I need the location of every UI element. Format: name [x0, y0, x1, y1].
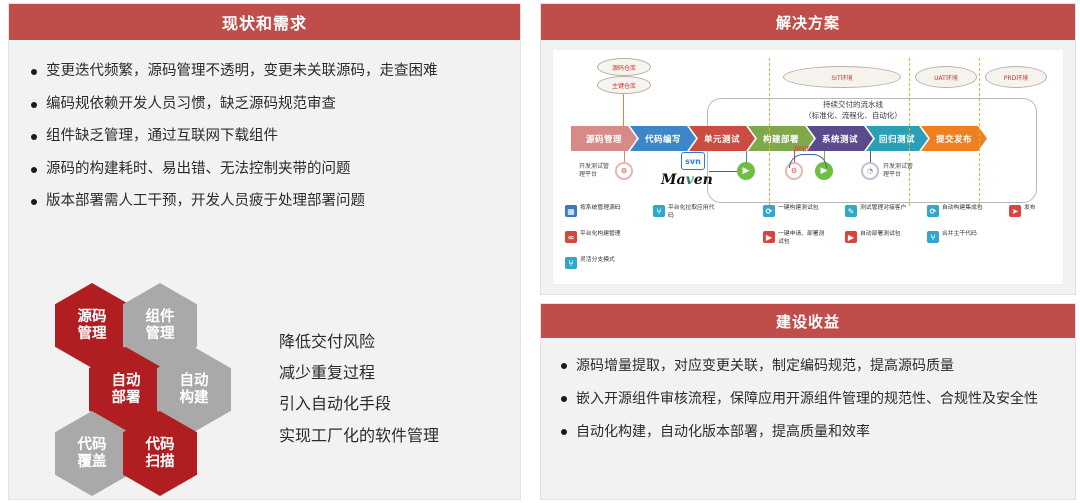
legend-item: ∞平台化构建管理 [565, 231, 628, 243]
current-state-panel: 现状和需求 变更迭代频繁，源码管理不透明，变更未关联源码，走查困难编码规依赖开发… [8, 3, 521, 500]
pipeline-node-label: 开发测试管 理平台 [579, 163, 609, 180]
benefit-goals-list: 降低交付风险减少重复过程引入自动化手段实现工厂化的软件管理 [279, 326, 439, 451]
hexagon-label-line2: 构建 [180, 390, 209, 407]
list-item-label: 版本部署需人工干预，开发人员疲于处理部署问题 [46, 192, 365, 212]
hexagon-label-line1: 代码 [78, 437, 107, 454]
repository-label: 主键仓库 [612, 81, 636, 90]
list-item-label: 嵌入开源组件审核流程，保障应用开源组件管理的规范性、合规性及安全性 [576, 389, 1038, 410]
current-state-body: 变更迭代频繁，源码管理不透明，变更未关联源码，走查困难编码规依赖开发人员习惯，缺… [9, 40, 520, 499]
solution-body: 持续交付的流水线 （标准化、流程化、自动化） 源码管理代码编写单元测试构建部署系… [541, 40, 1075, 294]
legend-item-label: 发布 [1024, 205, 1064, 213]
environment-node: SIT环境 [783, 66, 901, 88]
legend-item-label: 灵活分支模式 [580, 257, 628, 265]
hexagon-label-line2: 部署 [112, 390, 141, 407]
pipeline-stage-label: 源码管理 [586, 133, 622, 145]
list-item: 版本部署需人工干预，开发人员疲于处理部署问题 [31, 192, 500, 212]
environment-node: UAT环境 [915, 66, 977, 88]
legend-icon: ⑂ [653, 205, 665, 217]
pipeline-tool-node: ◔ [861, 162, 879, 180]
repository-node: 主键仓库 [597, 76, 651, 94]
pipeline-node-label: 开发测试管 理平台 [883, 163, 913, 180]
pipeline-stage-label: 代码编写 [645, 133, 681, 145]
legend-item: ⟳一键构建测试包 [763, 205, 826, 217]
bullet-dot-icon [561, 396, 567, 402]
pipeline-stage: 回归测试 [866, 126, 928, 151]
benefit-body: 源码增量提取，对应变更关联，制定编码规范，提高源码质量嵌入开源组件审核流程，保障… [541, 338, 1075, 499]
legend-item-label: 一键构建测试包 [778, 205, 826, 213]
pipeline-stage-label: 提交发布 [936, 133, 972, 145]
environment-label: SIT环境 [831, 73, 852, 82]
legend-icon: ➤ [1009, 205, 1021, 217]
benefit-goal-line: 实现工厂化的软件管理 [279, 420, 439, 451]
legend-item-label: 按系统管理源码 [580, 205, 628, 213]
list-item-label: 变更迭代频繁，源码管理不透明，变更未关联源码，走查困难 [46, 62, 438, 82]
legend-item: ⑂平台化拉取应用代码 [653, 205, 716, 221]
legend-item-label: 平台化构建管理 [580, 231, 628, 239]
environment-label: PRD环境 [1004, 73, 1028, 82]
legend-item: ⑂合并主干代码 [927, 231, 990, 243]
solution-title: 解决方案 [541, 4, 1075, 40]
hexagon-label-line2: 管理 [78, 326, 107, 343]
legend-icon: ✎ [845, 205, 857, 217]
legend-icon: ⑂ [565, 257, 577, 269]
list-item: 组件缺乏管理，通过互联网下载组件 [31, 127, 500, 147]
bullet-dot-icon [561, 429, 567, 435]
legend-item: ▶一键申请、部署测试包 [763, 231, 826, 247]
environment-divider [769, 58, 770, 206]
current-state-bullet-list: 变更迭代频繁，源码管理不透明，变更未关联源码，走查困难编码规依赖开发人员习惯，缺… [9, 40, 520, 212]
legend-item: ▶自动部署测试包 [845, 231, 908, 243]
hexagon-label-line1: 自动 [112, 373, 141, 390]
legend-item-label: 一键申请、部署测试包 [778, 231, 826, 247]
list-item-label: 编码规依赖开发人员习惯，缺乏源码规范审查 [46, 95, 336, 115]
hexagon-label-line1: 源码 [78, 309, 107, 326]
maven-to-build-arrow [709, 171, 737, 172]
hexagon-label-line2: 管理 [146, 326, 175, 343]
legend-icon: ▶ [763, 231, 775, 243]
list-item: 自动化构建，自动化版本部署，提高质量和效率 [561, 422, 1053, 443]
bullet-dot-icon [31, 199, 37, 205]
bullet-dot-icon [31, 167, 37, 173]
bullet-dot-icon [561, 363, 567, 369]
list-item: 编码规依赖开发人员习惯，缺乏源码规范审查 [31, 95, 500, 115]
hexagon-label-line2: 扫描 [146, 454, 175, 471]
legend-icon: ⑂ [927, 231, 939, 243]
environment-node: PRD环境 [985, 66, 1047, 88]
pipeline-tool-node: ⚙ [615, 162, 633, 180]
legend-item-label: 合并主干代码 [942, 231, 990, 239]
cicd-pipeline-diagram: 持续交付的流水线 （标准化、流程化、自动化） 源码管理代码编写单元测试构建部署系… [552, 49, 1064, 285]
legend-item-label: 自动构建集成包 [942, 205, 990, 213]
benefit-title: 建设收益 [541, 304, 1075, 338]
benefit-goal-line: 减少重复过程 [279, 357, 439, 388]
list-item-label: 源码的构建耗时、易出错、无法控制夹带的问题 [46, 160, 351, 180]
slide-canvas: 现状和需求 变更迭代频繁，源码管理不透明，变更未关联源码，走查困难编码规依赖开发… [0, 0, 1080, 503]
current-state-title: 现状和需求 [9, 4, 520, 40]
list-item: 源码的构建耗时、易出错、无法控制夹带的问题 [31, 160, 500, 180]
pipeline-stage-row: 源码管理代码编写单元测试构建部署系统测试回归测试提交发布 [571, 126, 980, 151]
benefit-panel: 建设收益 源码增量提取，对应变更关联，制定编码规范，提高源码质量嵌入开源组件审核… [540, 303, 1076, 500]
list-item: 源码增量提取，对应变更关联，制定编码规范，提高源码质量 [561, 356, 1053, 377]
legend-icon: ▶ [845, 231, 857, 243]
legend-icon: ⟳ [763, 205, 775, 217]
svn-logo: svn [681, 152, 705, 170]
list-item-label: 组件缺乏管理，通过互联网下载组件 [46, 127, 278, 147]
legend-item: ✎测试管理对接客户 [845, 205, 908, 217]
pipeline-stage-label: 单元测试 [704, 133, 740, 145]
repo-to-pipeline-arrow [623, 94, 624, 126]
list-item-label: 自动化构建，自动化版本部署，提高质量和效率 [576, 422, 870, 443]
benefit-bullet-list: 源码增量提取，对应变更关联，制定编码规范，提高源码质量嵌入开源组件审核流程，保障… [541, 338, 1075, 443]
hexagon-label-line2: 覆盖 [78, 454, 107, 471]
pipeline-stage: 代码编写 [630, 126, 696, 151]
pipeline-stage: 单元测试 [689, 126, 755, 151]
list-item-label: 源码增量提取，对应变更关联，制定编码规范，提高源码质量 [576, 356, 954, 377]
pipeline-stage: 提交发布 [921, 126, 987, 151]
benefit-goal-line: 引入自动化手段 [279, 388, 439, 419]
pipeline-tool-node: ▶ [737, 162, 755, 180]
legend-item: ⑂灵活分支模式 [565, 257, 628, 269]
hexagon-label-line1: 自动 [180, 373, 209, 390]
environment-divider [909, 58, 910, 206]
repository-node: 源码仓库 [597, 58, 651, 76]
environment-divider [979, 58, 980, 206]
environment-label: UAT环境 [934, 73, 958, 82]
maven-logo-accent: v [686, 172, 694, 188]
benefit-goal-line: 降低交付风险 [279, 326, 439, 357]
hexagon-label-line1: 代码 [146, 437, 175, 454]
list-item: 变更迭代频繁，源码管理不透明，变更未关联源码，走查困难 [31, 62, 500, 82]
pipeline-stage-label: 系统测试 [822, 133, 858, 145]
legend-item-label: 平台化拉取应用代码 [668, 205, 716, 221]
hexagon-cluster: 源码管理组件管理自动部署自动构建代码覆盖代码扫描 [33, 283, 263, 503]
solution-panel: 解决方案 持续交付的流水线 （标准化、流程化、自动化） 源码管理代码编写单元测试… [540, 3, 1076, 295]
list-item: 嵌入开源组件审核流程，保障应用开源组件管理的规范性、合规性及安全性 [561, 389, 1053, 410]
legend-item-label: 自动部署测试包 [860, 231, 908, 239]
legend-icon: ▦ [565, 205, 577, 217]
bullet-dot-icon [31, 69, 37, 75]
legend-grid: ▦按系统管理源码∞平台化构建管理⑂灵活分支模式⑂平台化拉取应用代码⟳一键构建测试… [565, 205, 1064, 285]
source-repo-arc [789, 154, 827, 168]
maven-logo-text2: en [694, 172, 713, 188]
hexagon-label-line1: 组件 [146, 309, 175, 326]
pipeline-stage: 源码管理 [571, 126, 637, 151]
legend-item: ➤发布 [1009, 205, 1064, 217]
maven-logo: Maven [661, 172, 713, 188]
legend-icon: ⟳ [927, 205, 939, 217]
bullet-dot-icon [31, 102, 37, 108]
legend-item-label: 测试管理对接客户 [860, 205, 908, 213]
legend-icon: ∞ [565, 231, 577, 243]
bullet-dot-icon [31, 134, 37, 140]
legend-item: ▦按系统管理源码 [565, 205, 628, 217]
pipeline-stage: 系统测试 [807, 126, 873, 151]
continuous-delivery-label: 持续交付的流水线 （标准化、流程化、自动化） [753, 100, 953, 122]
legend-item: ⟳自动构建集成包 [927, 205, 990, 217]
maven-logo-text: Ma [661, 172, 686, 188]
repository-label: 源码仓库 [612, 63, 636, 72]
